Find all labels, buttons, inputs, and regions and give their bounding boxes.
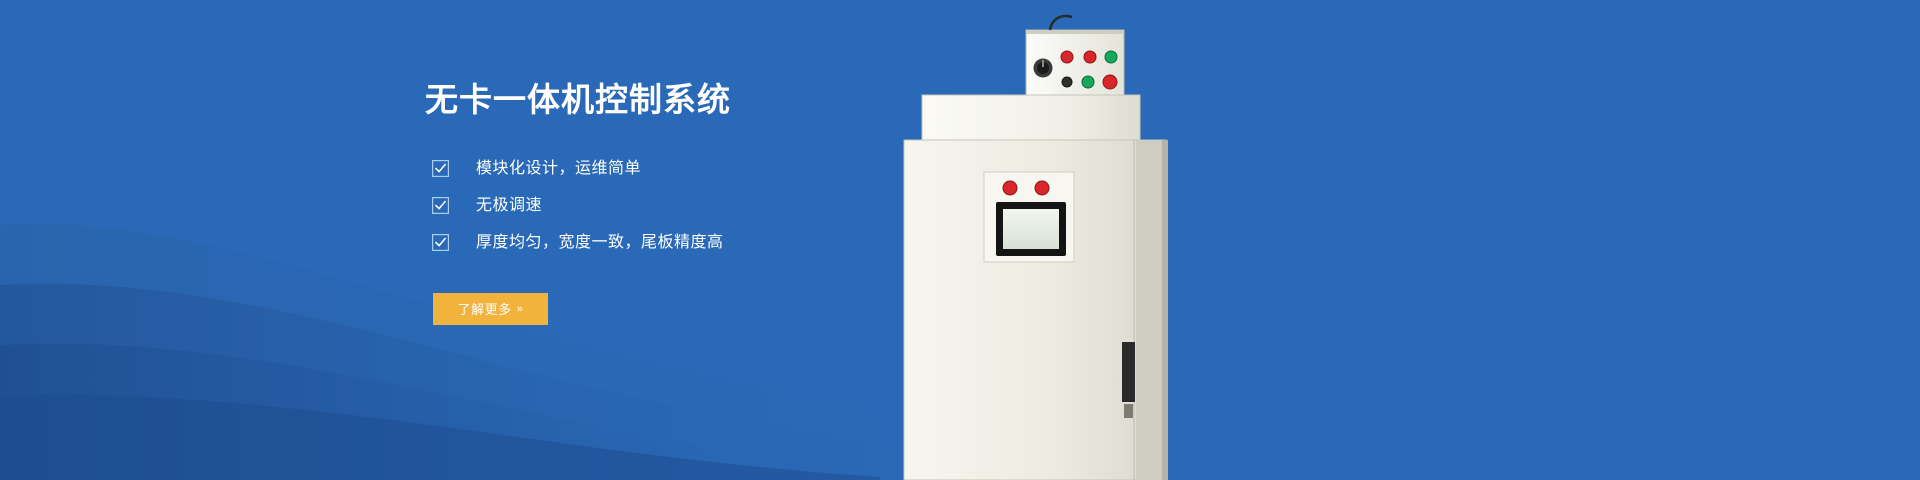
checkbox-checked-icon	[432, 234, 449, 251]
pilot-lamp-red-1	[1003, 181, 1017, 195]
page-title: 无卡一体机控制系统	[425, 80, 945, 120]
feature-list: 模块化设计，运维简单 无极调速 厚度均匀，宽度一致，尾板精度高	[432, 158, 945, 254]
feature-item: 模块化设计，运维简单	[432, 158, 945, 180]
pilot-lamp-red-2	[1035, 181, 1049, 195]
feature-item: 无极调速	[432, 195, 945, 217]
feature-item: 厚度均匀，宽度一致，尾板精度高	[432, 232, 945, 254]
product-image-control-cabinet	[900, 0, 1200, 480]
cabinet-lock	[1124, 404, 1133, 418]
double-chevron-right-icon: »	[517, 303, 524, 315]
cabinet-handle-slot	[1122, 342, 1135, 402]
cabinet-side-panel	[1136, 140, 1166, 480]
hmi-touchscreen-display[interactable]	[1003, 209, 1059, 249]
feature-text: 无极调速	[476, 198, 542, 214]
cabinet-top-shelf	[922, 95, 1140, 140]
top-control-box	[1026, 16, 1124, 95]
checkbox-checked-icon	[432, 160, 449, 177]
hero-content: 无卡一体机控制系统 模块化设计，运维简单 无极调速	[425, 80, 945, 325]
hero-banner: 无卡一体机控制系统 模块化设计，运维简单 无极调速	[0, 0, 1920, 480]
cabinet-edge	[1162, 140, 1168, 480]
learn-more-button[interactable]: 了解更多 »	[433, 293, 548, 325]
checkbox-checked-icon	[432, 197, 449, 214]
feature-text: 模块化设计，运维简单	[476, 161, 641, 177]
learn-more-label: 了解更多	[458, 299, 512, 318]
feature-text: 厚度均匀，宽度一致，尾板精度高	[476, 235, 724, 251]
